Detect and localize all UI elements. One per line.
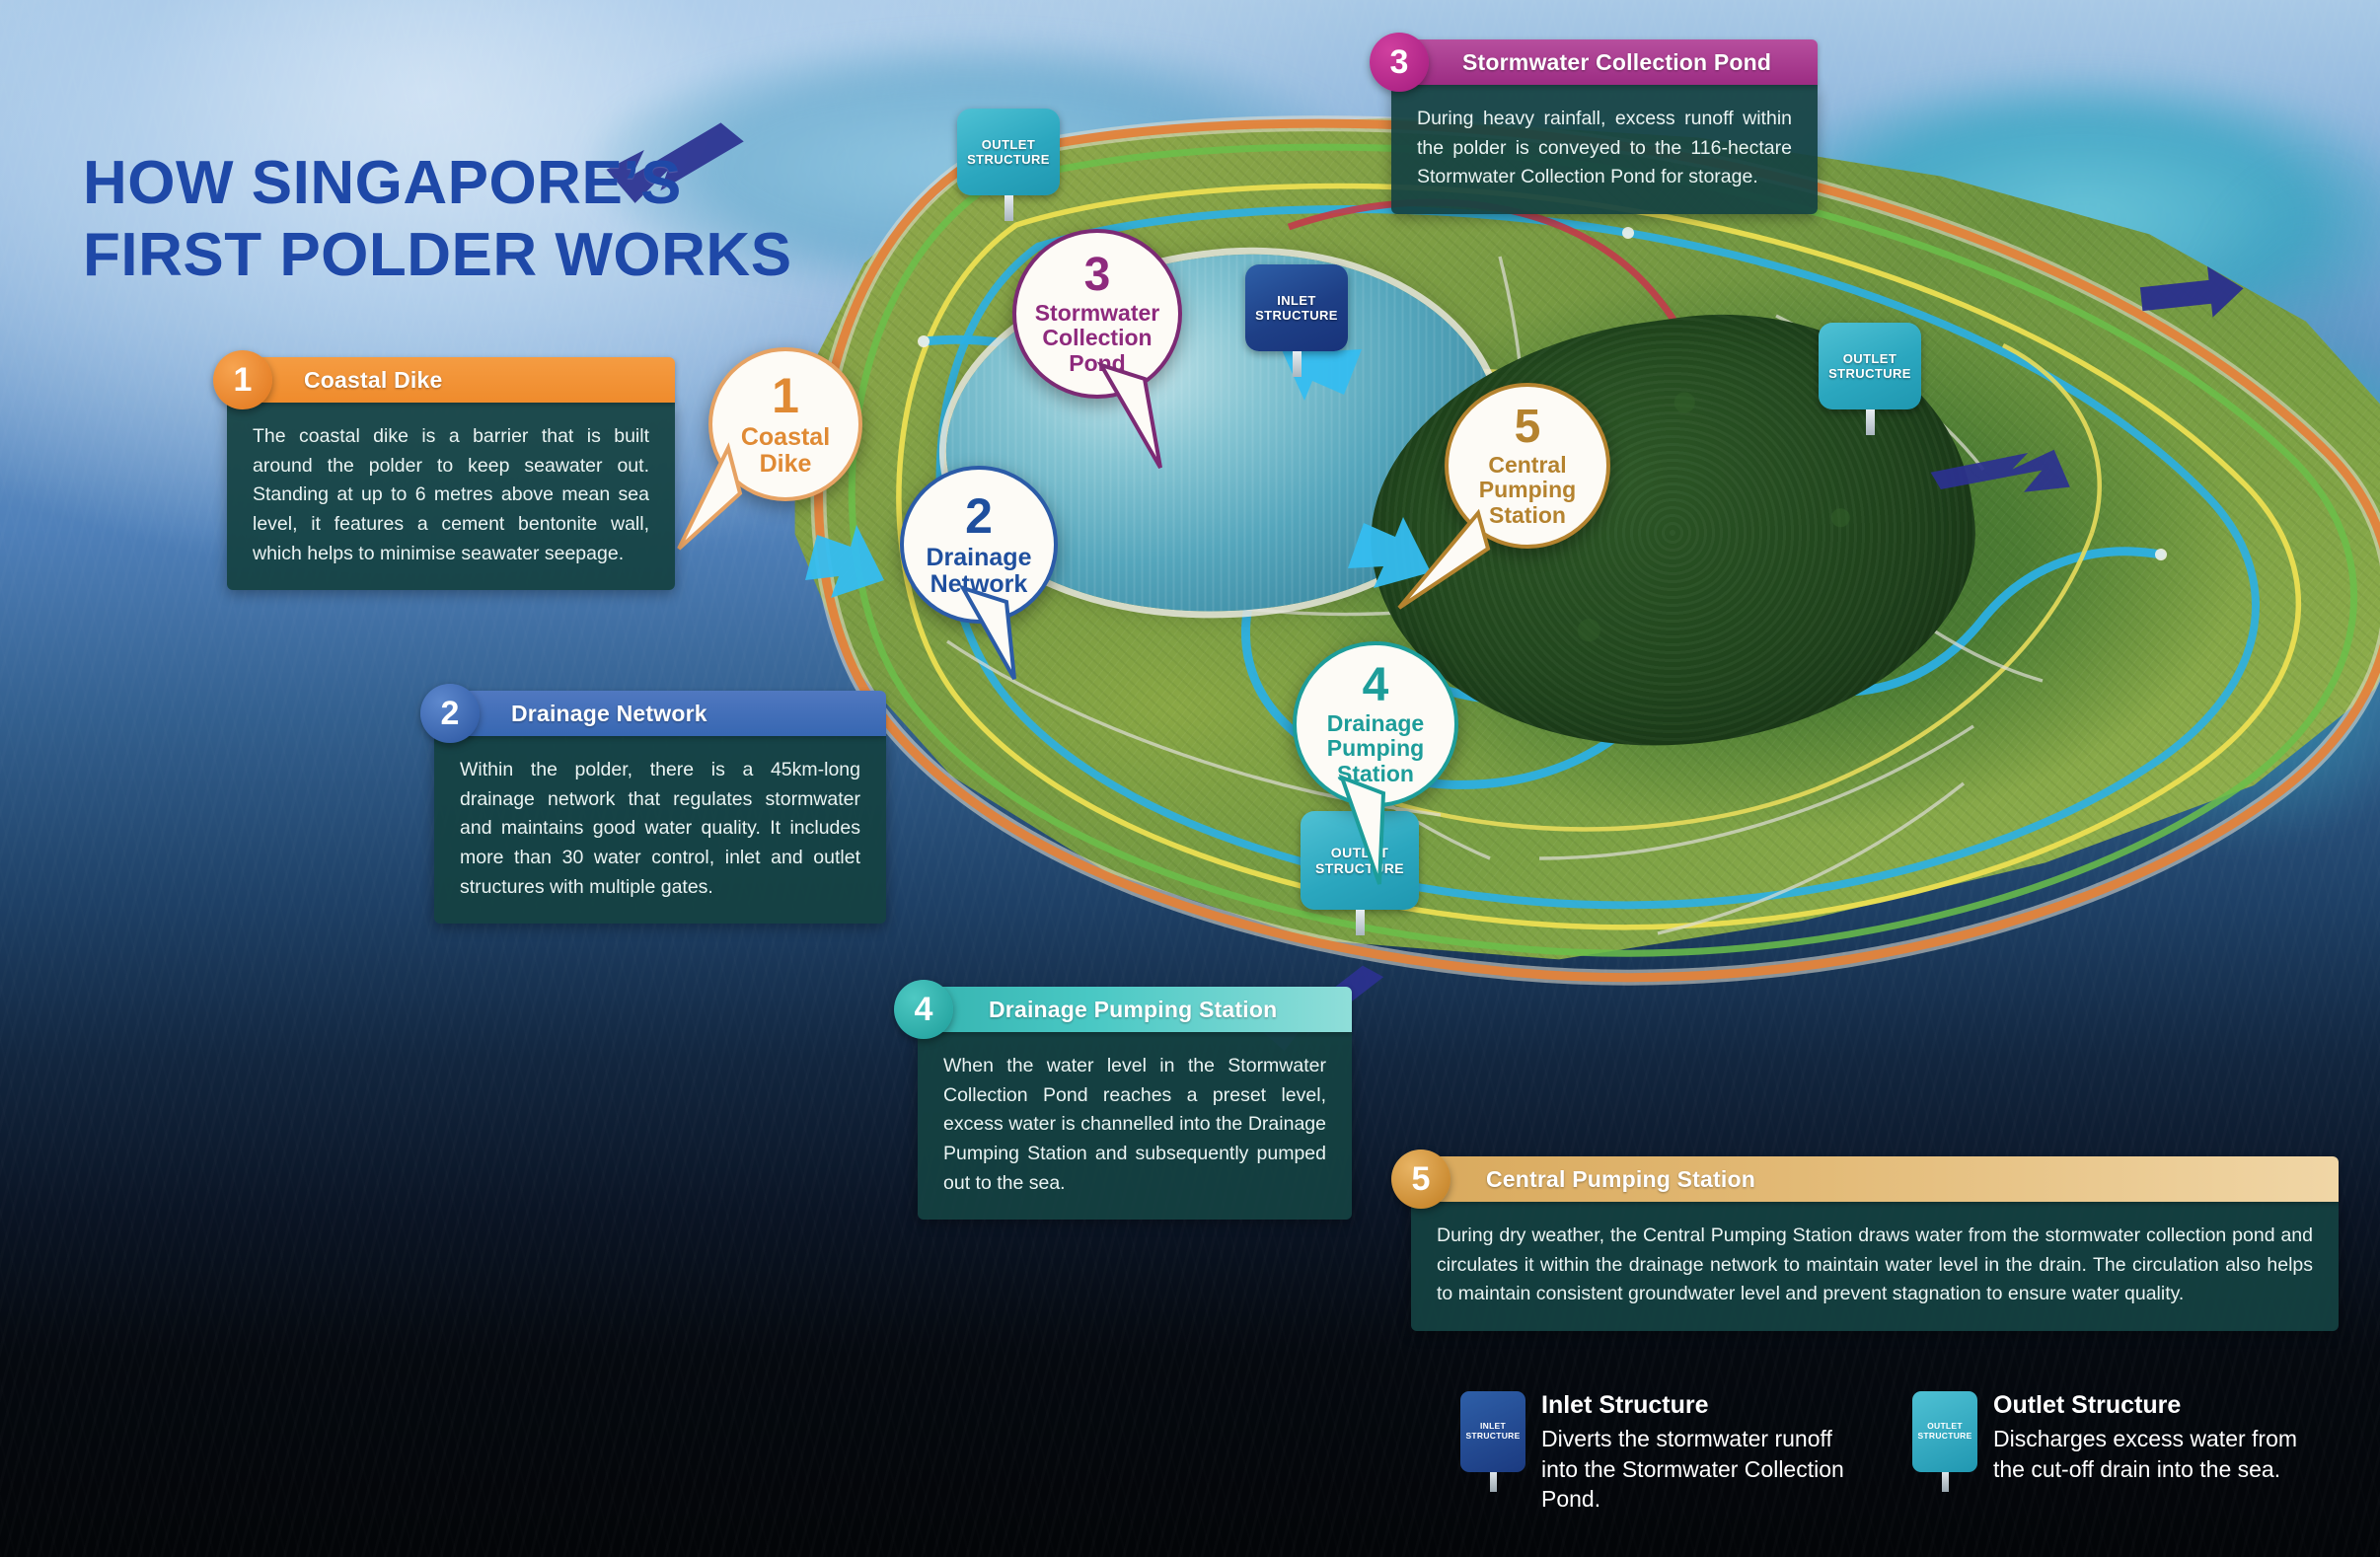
sign-post (1942, 1472, 1949, 1492)
sign-line1: OUTLET (1843, 351, 1897, 366)
sign-plate: OUTLET STRUCTURE (1819, 323, 1921, 409)
map-marker-4-drainage-pumping-station[interactable]: 4 Drainage Pumping Station (1293, 641, 1458, 807)
card-title: Coastal Dike (304, 367, 442, 394)
legend-item-inlet-structure: INLET STRUCTURE Inlet Structure Diverts … (1460, 1391, 1847, 1515)
marker-label-line1: Drainage (927, 544, 1032, 571)
card-number-badge: 3 (1370, 33, 1429, 92)
legend-outlet-sign-icon: OUTLET STRUCTURE (1912, 1391, 1977, 1515)
card-body: When the water level in the Stormwater C… (918, 1032, 1352, 1220)
marker-label-line2: Collection (1042, 325, 1152, 350)
map-sign-outlet-structure-top-left[interactable]: OUTLET STRUCTURE (957, 109, 1060, 221)
card-header: 4 Drainage Pumping Station (918, 987, 1352, 1032)
info-card-1-coastal-dike: 1 Coastal Dike The coastal dike is a bar… (227, 357, 675, 590)
marker-number: 2 (965, 491, 993, 541)
legend-text: Inlet Structure Diverts the stormwater r… (1541, 1391, 1847, 1515)
marker-tail (671, 442, 760, 560)
page-title-line2: FIRST POLDER WORKS (83, 220, 792, 292)
marker-label-line2: Pumping (1327, 735, 1424, 761)
card-title: Drainage Pumping Station (989, 997, 1277, 1023)
map-marker-5-central-pumping-station[interactable]: 5 Central Pumping Station (1445, 383, 1610, 549)
info-card-3-stormwater-collection-pond: 3 Stormwater Collection Pond During heav… (1391, 39, 1818, 214)
card-header: 1 Coastal Dike (227, 357, 675, 403)
card-body: Within the polder, there is a 45km-long … (434, 736, 886, 924)
sign-line2: STRUCTURE (1255, 308, 1338, 323)
sign-line2: STRUCTURE (1828, 366, 1911, 381)
marker-number: 1 (772, 371, 799, 420)
card-body: During dry weather, the Central Pumping … (1411, 1202, 2339, 1331)
marker-number: 5 (1515, 404, 1541, 451)
marker-tail (1336, 768, 1445, 896)
sign-plate: INLET STRUCTURE (1460, 1391, 1525, 1472)
legend-title: Inlet Structure (1541, 1391, 1847, 1420)
legend-item-outlet-structure: OUTLET STRUCTURE Outlet Structure Discha… (1912, 1391, 2299, 1515)
sign-post (1293, 351, 1302, 377)
marker-number: 3 (1084, 252, 1111, 299)
sign-line2: STRUCTURE (1917, 1431, 1971, 1441)
card-title: Drainage Network (511, 701, 707, 727)
info-card-2-drainage-network: 2 Drainage Network Within the polder, th… (434, 691, 886, 924)
marker-tail (1099, 357, 1208, 485)
card-header: 3 Stormwater Collection Pond (1391, 39, 1818, 85)
sign-post (1004, 195, 1013, 221)
legend-inlet-sign-icon: INLET STRUCTURE (1460, 1391, 1525, 1515)
sign-post (1866, 409, 1875, 435)
legend-title: Outlet Structure (1993, 1391, 2299, 1420)
sign-post (1356, 910, 1365, 935)
card-number-badge: 5 (1391, 1149, 1450, 1209)
card-number-badge: 1 (213, 350, 272, 409)
legend-description: Diverts the stormwater runoff into the S… (1541, 1424, 1847, 1515)
map-sign-outlet-structure-right[interactable]: OUTLET STRUCTURE (1819, 323, 1921, 435)
map-marker-2-drainage-network[interactable]: 2 Drainage Network (900, 466, 1058, 624)
card-title: Stormwater Collection Pond (1462, 49, 1771, 76)
map-marker-1-coastal-dike[interactable]: 1 Coastal Dike (708, 347, 862, 501)
legend: INLET STRUCTURE Inlet Structure Diverts … (1460, 1391, 2299, 1515)
marker-tail (1393, 501, 1512, 630)
card-header: 5 Central Pumping Station (1411, 1156, 2339, 1202)
card-body: The coastal dike is a barrier that is bu… (227, 403, 675, 590)
marker-label-line1: Drainage (1327, 710, 1424, 736)
marker-label-line1: Central (1488, 452, 1566, 478)
card-header: 2 Drainage Network (434, 691, 886, 736)
sign-line2: STRUCTURE (1465, 1431, 1520, 1441)
marker-label-line2: Dike (760, 450, 812, 478)
sign-plate: OUTLET STRUCTURE (957, 109, 1060, 195)
sign-line2: STRUCTURE (967, 152, 1050, 167)
card-title: Central Pumping Station (1486, 1166, 1755, 1193)
legend-description: Discharges excess water from the cut-off… (1993, 1424, 2299, 1484)
map-marker-3-stormwater-collection-pond[interactable]: 3 Stormwater Collection Pond (1012, 229, 1182, 399)
card-number-badge: 4 (894, 980, 953, 1039)
sign-line1: OUTLET (1927, 1421, 1963, 1431)
legend-text: Outlet Structure Discharges excess water… (1993, 1391, 2299, 1515)
sign-line1: INLET (1480, 1421, 1506, 1431)
sign-line1: OUTLET (982, 137, 1035, 152)
card-number-badge: 2 (420, 684, 480, 743)
map-sign-inlet-structure-top[interactable]: INLET STRUCTURE (1245, 264, 1348, 377)
info-card-5-central-pumping-station: 5 Central Pumping Station During dry wea… (1411, 1156, 2339, 1331)
sign-plate: OUTLET STRUCTURE (1912, 1391, 1977, 1472)
marker-number: 4 (1363, 662, 1389, 709)
marker-label-line1: Stormwater (1035, 300, 1160, 326)
sign-line1: INLET (1277, 293, 1316, 308)
marker-label-line2: Pumping (1479, 477, 1576, 502)
marker-tail (959, 584, 1068, 703)
sea-flow-arrow (1924, 424, 2112, 533)
info-card-4-drainage-pumping-station: 4 Drainage Pumping Station When the wate… (918, 987, 1352, 1220)
page-title: HOW SINGAPORE’S FIRST POLDER WORKS (83, 148, 792, 291)
page-title-line1: HOW SINGAPORE’S (83, 148, 792, 220)
card-body: During heavy rainfall, excess runoff wit… (1391, 85, 1818, 214)
infographic-canvas: OUTLET STRUCTURE INLET STRUCTURE OUTLET … (0, 0, 2380, 1557)
sign-plate: INLET STRUCTURE (1245, 264, 1348, 351)
sign-post (1490, 1472, 1497, 1492)
